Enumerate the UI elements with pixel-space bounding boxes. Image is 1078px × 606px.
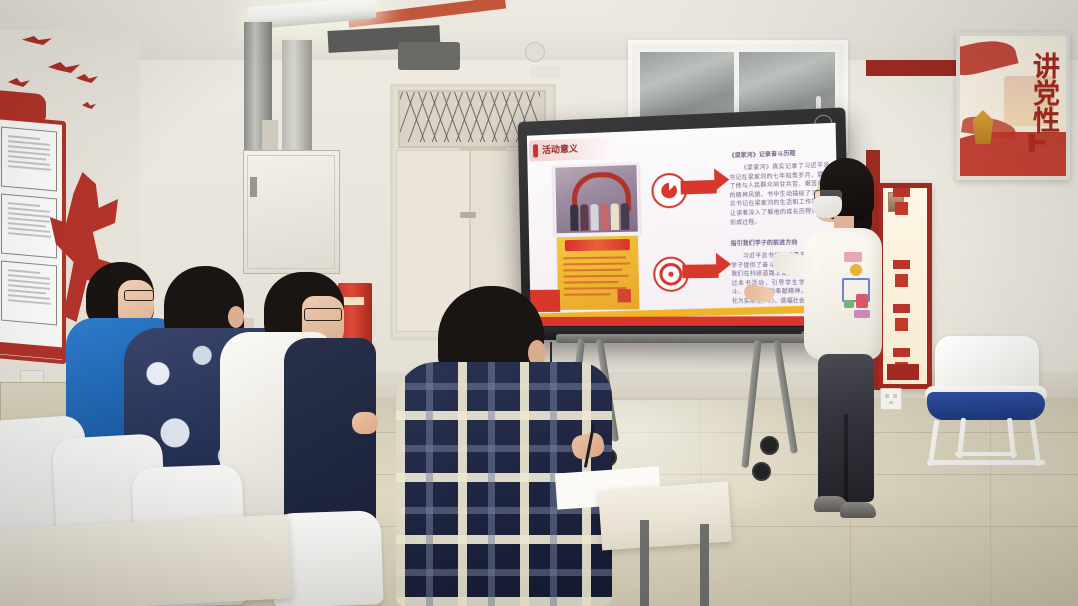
desk-leg <box>640 520 649 606</box>
student-4 <box>396 286 616 606</box>
dove-decal <box>82 102 96 109</box>
stand-caster <box>752 462 771 481</box>
door-handle[interactable] <box>460 212 476 218</box>
cabinet-latch[interactable] <box>250 177 257 197</box>
photo-person <box>611 203 620 230</box>
electrical-cabinet <box>243 150 340 274</box>
dove-decal <box>8 78 30 87</box>
front-desk-right <box>598 482 732 551</box>
poster-photo-seal-icon <box>617 289 631 302</box>
chair-base-rail <box>955 452 1017 456</box>
sweatshirt-graphic-print <box>840 250 874 320</box>
party-poster: 讲党性 <box>956 32 1070 180</box>
dove-decal <box>22 36 52 45</box>
photo-person <box>590 204 599 231</box>
stand-caster <box>760 436 779 455</box>
chair-blue-cushion <box>927 392 1045 420</box>
cabinet-door[interactable] <box>247 155 335 269</box>
poster-artwork: 讲党性 <box>960 36 1066 176</box>
student-2-ear <box>228 306 244 328</box>
presenter-shoe-right <box>840 502 876 518</box>
presenter-person <box>790 158 900 538</box>
document-sheet <box>1 194 57 259</box>
photo-person <box>580 204 589 231</box>
document-sheet <box>1 127 57 192</box>
presenter-jeans <box>818 354 874 502</box>
photo-person <box>621 203 630 230</box>
front-desk-left <box>0 514 292 606</box>
slide-title-accent <box>533 144 538 157</box>
target-center-icon <box>668 272 673 277</box>
student-3-glasses <box>304 308 342 321</box>
dove-decal <box>76 74 98 83</box>
poster-title-text: 讲党性 <box>1024 52 1060 133</box>
presenter-face-mask <box>812 196 842 218</box>
slide-photo-group <box>553 163 640 235</box>
desk-leg <box>700 524 709 606</box>
slide-arrow-1 <box>680 180 716 195</box>
pie-chart-icon <box>661 183 677 199</box>
dove-decal <box>48 62 80 73</box>
jeans-seam <box>844 414 848 502</box>
slide-arrow-2 <box>682 264 718 278</box>
slide-arrow-head-1 <box>714 168 729 191</box>
chair-base-rail <box>927 460 1045 465</box>
emergency-light <box>530 66 560 78</box>
slide-arrow-head-2 <box>716 253 731 276</box>
projector-mount <box>398 42 460 70</box>
smoke-detector-icon <box>525 42 545 62</box>
white-stacking-chair[interactable] <box>925 336 1049 466</box>
slide-title: 活动意义 <box>542 142 578 156</box>
document-sheet <box>1 261 57 326</box>
photo-person <box>570 204 579 230</box>
classroom-photo-scene: 讲党性 <box>0 0 1078 606</box>
photo-person <box>600 204 609 231</box>
poster-photo-title <box>565 239 630 251</box>
presenter-sweatshirt <box>804 228 882 360</box>
student-3-hand <box>352 412 378 434</box>
